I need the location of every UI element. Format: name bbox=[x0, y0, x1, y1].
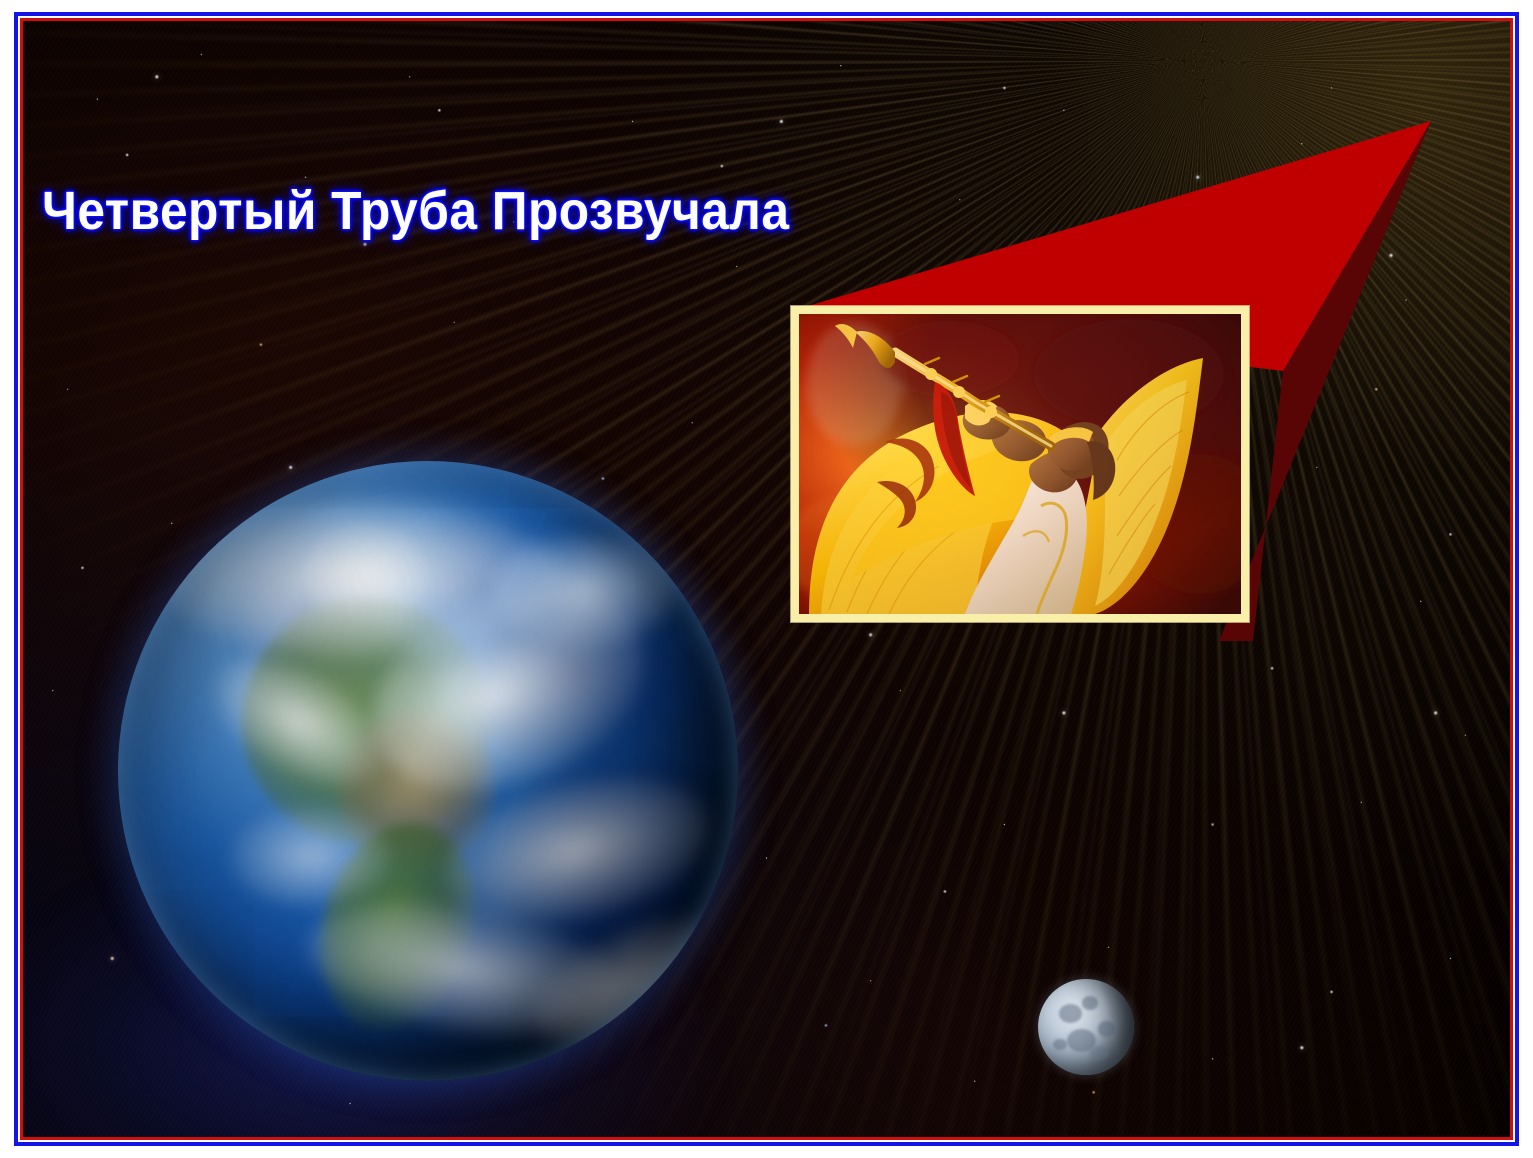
page-title: Четвертый Труба Прозвучала bbox=[42, 184, 789, 238]
moon-sphere bbox=[1038, 979, 1134, 1075]
earth-limb-highlight bbox=[118, 461, 738, 1081]
moon-shadow bbox=[1038, 979, 1134, 1075]
slide-root: Четвертый Труба Прозвучала bbox=[0, 0, 1533, 1158]
earth-globe bbox=[118, 461, 738, 1081]
earth-sphere bbox=[118, 461, 738, 1081]
space-background: Четвертый Труба Прозвучала bbox=[23, 21, 1510, 1137]
moon bbox=[1038, 979, 1134, 1075]
angel-picture bbox=[799, 314, 1241, 614]
angel-picture-frame bbox=[791, 306, 1249, 622]
picture-glow-overlay bbox=[799, 314, 1241, 614]
